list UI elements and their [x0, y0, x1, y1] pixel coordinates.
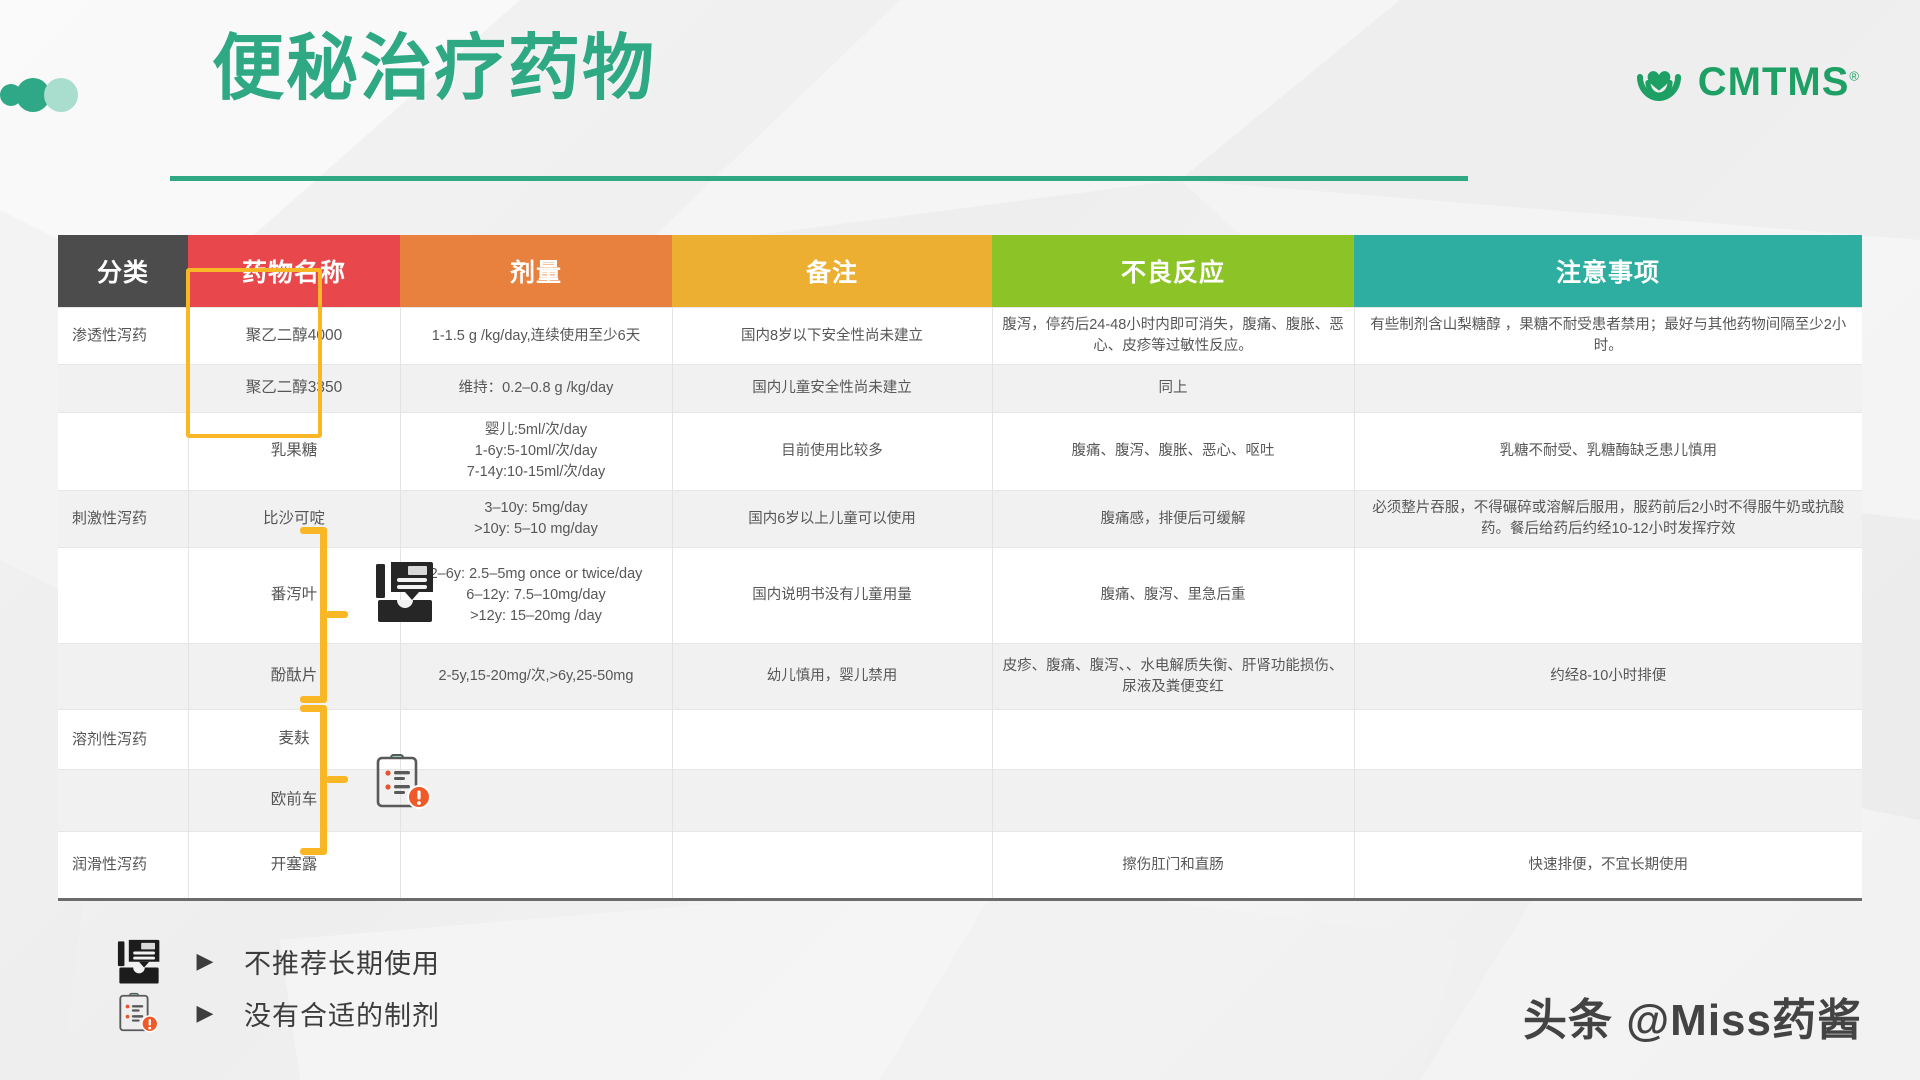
cell-adverse-reaction: 腹痛感，排便后可缓解	[992, 491, 1354, 548]
column-header-caution: 注意事项	[1354, 235, 1862, 308]
legend: ▶ 不推荐长期使用 ▶ 没有合适的制剂	[112, 935, 440, 1039]
cell-caution: 快速排便，不宜长期使用	[1354, 832, 1862, 900]
column-header-drug-name: 药物名称	[188, 235, 400, 308]
cell-dose	[400, 710, 672, 770]
cell-dose: 2–6y: 2.5–5mg once or twice/day 6–12y: 7…	[400, 548, 672, 644]
decorative-dots	[0, 78, 90, 112]
slide-header: 便秘治疗药物 CMTMS®	[0, 0, 1920, 190]
cell-drug-name: 聚乙二醇4000	[188, 308, 400, 365]
cell-category: 溶剂性泻药	[58, 710, 188, 770]
table-row: 欧前车	[58, 770, 1862, 832]
cell-note	[672, 832, 992, 900]
cell-note	[672, 770, 992, 832]
cell-caution	[1354, 548, 1862, 644]
cell-category	[58, 548, 188, 644]
legend-arrow-icon: ▶	[184, 948, 226, 974]
legend-item: ▶ 没有合适的制剂	[112, 987, 440, 1039]
cell-caution: 乳糖不耐受、乳糖酶缺乏患儿慎用	[1354, 413, 1862, 491]
legend-label: 没有合适的制剂	[244, 994, 440, 1033]
cell-note: 国内8岁以下安全性尚未建立	[672, 308, 992, 365]
cell-drug-name: 麦麸	[188, 710, 400, 770]
cell-dose: 1-1.5 g /kg/day,连续使用至少6天	[400, 308, 672, 365]
cell-adverse-reaction	[992, 710, 1354, 770]
cell-drug-name: 乳果糖	[188, 413, 400, 491]
cell-caution: 约经8-10小时排便	[1354, 644, 1862, 710]
cell-caution: 必须整片吞服，不得碾碎或溶解后服用，服药前后2小时不得服牛奶或抗酸药。餐后给药后…	[1354, 491, 1862, 548]
page-title: 便秘治疗药物	[212, 33, 656, 105]
column-header-adverse-reaction: 不良反应	[992, 235, 1354, 308]
table-row: 番泻叶 2–6y: 2.5–5mg once or twice/day 6–12…	[58, 548, 1862, 644]
table-row: 渗透性泻药 聚乙二醇4000 1-1.5 g /kg/day,连续使用至少6天 …	[58, 308, 1862, 365]
cell-drug-name: 开塞露	[188, 832, 400, 900]
cell-adverse-reaction: 腹痛、腹泻、腹胀、恶心、呕吐	[992, 413, 1354, 491]
cell-dose: 婴儿:5ml/次/day 1-6y:5-10ml/次/day 7-14y:10-…	[400, 413, 672, 491]
cell-dose	[400, 832, 672, 900]
cell-note: 幼儿慎用，婴儿禁用	[672, 644, 992, 710]
cell-caution: 有些制剂含山梨糖醇 ，果糖不耐受患者禁用；最好与其他药物间隔至少2小时。	[1354, 308, 1862, 365]
archive-document-icon	[112, 937, 166, 985]
cell-note: 国内6岁以上儿童可以使用	[672, 491, 992, 548]
clipboard-warning-icon	[112, 990, 166, 1036]
cell-dose: 维持：0.2–0.8 g /kg/day	[400, 365, 672, 413]
cell-dose: 2-5y,15-20mg/次,>6y,25-50mg	[400, 644, 672, 710]
cell-adverse-reaction: 擦伤肛门和直肠	[992, 832, 1354, 900]
column-header-note: 备注	[672, 235, 992, 308]
cell-caution	[1354, 710, 1862, 770]
table-header-row: 分类 药物名称 剂量 备注 不良反应 注意事项	[58, 235, 1862, 308]
registered-mark: ®	[1849, 69, 1860, 84]
cell-adverse-reaction: 腹痛、腹泻、里急后重	[992, 548, 1354, 644]
cell-caution	[1354, 365, 1862, 413]
legend-label: 不推荐长期使用	[244, 942, 440, 981]
table-row: 溶剂性泻药 麦麸	[58, 710, 1862, 770]
cell-drug-name: 比沙可啶	[188, 491, 400, 548]
cell-category	[58, 644, 188, 710]
legend-arrow-icon: ▶	[184, 1000, 226, 1026]
brand-logo: CMTMS®	[1634, 55, 1860, 109]
column-header-category: 分类	[58, 235, 188, 308]
cell-adverse-reaction: 皮疹、腹痛、腹泻、、水电解质失衡、肝肾功能损伤、尿液及粪便变红	[992, 644, 1354, 710]
watermark: 头条 @Miss药酱	[1523, 984, 1862, 1048]
cell-drug-name: 番泻叶	[188, 548, 400, 644]
legend-item: ▶ 不推荐长期使用	[112, 935, 440, 987]
title-underline	[170, 176, 1468, 181]
cell-adverse-reaction: 同上	[992, 365, 1354, 413]
cell-note: 目前使用比较多	[672, 413, 992, 491]
cell-category	[58, 770, 188, 832]
cell-dose	[400, 770, 672, 832]
cell-drug-name: 欧前车	[188, 770, 400, 832]
table-row: 聚乙二醇3350 维持：0.2–0.8 g /kg/day 国内儿童安全性尚未建…	[58, 365, 1862, 413]
table-row: 刺激性泻药 比沙可啶 3–10y: 5mg/day >10y: 5–10 mg/…	[58, 491, 1862, 548]
heart-in-hands-icon	[1634, 58, 1684, 106]
table-row: 酚酞片 2-5y,15-20mg/次,>6y,25-50mg 幼儿慎用，婴儿禁用…	[58, 644, 1862, 710]
brand-name: CMTMS	[1698, 60, 1850, 104]
cell-note: 国内儿童安全性尚未建立	[672, 365, 992, 413]
cell-note: 国内说明书没有儿童用量	[672, 548, 992, 644]
cell-adverse-reaction: 腹泻，停药后24-48小时内即可消失，腹痛、腹胀、恶心、皮疹等过敏性反应。	[992, 308, 1354, 365]
cell-adverse-reaction	[992, 770, 1354, 832]
cell-category: 刺激性泻药	[58, 491, 188, 548]
cell-drug-name: 聚乙二醇3350	[188, 365, 400, 413]
table-row: 润滑性泻药 开塞露 擦伤肛门和直肠 快速排便，不宜长期使用	[58, 832, 1862, 900]
cell-drug-name: 酚酞片	[188, 644, 400, 710]
cell-category	[58, 413, 188, 491]
cell-dose: 3–10y: 5mg/day >10y: 5–10 mg/day	[400, 491, 672, 548]
column-header-dose: 剂量	[400, 235, 672, 308]
cell-caution	[1354, 770, 1862, 832]
cell-category: 润滑性泻药	[58, 832, 188, 900]
drug-table: 分类 药物名称 剂量 备注 不良反应 注意事项 渗透性泻药 聚乙二醇4000 1…	[58, 235, 1862, 901]
cell-category: 渗透性泻药	[58, 308, 188, 365]
cell-category	[58, 365, 188, 413]
cell-note	[672, 710, 992, 770]
table-row: 乳果糖 婴儿:5ml/次/day 1-6y:5-10ml/次/day 7-14y…	[58, 413, 1862, 491]
